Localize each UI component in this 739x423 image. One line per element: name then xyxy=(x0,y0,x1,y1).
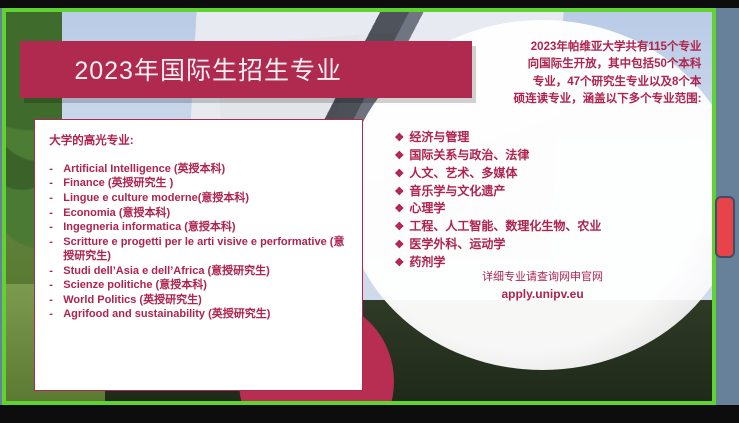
list-item: - Studi dell’Asia e dell’Africa (意授研究生) xyxy=(49,264,351,279)
program-label: Finance (英授研究生 ) xyxy=(63,176,351,191)
list-item: - Artificial Intelligence (英授本科) xyxy=(49,162,351,177)
slide-title-banner[interactable]: 2023年国际生招生专业 xyxy=(20,41,472,97)
diamond-bullet-icon: ❖ xyxy=(394,202,409,218)
list-item: ❖ 心理学 xyxy=(394,200,705,218)
list-item: ❖ 经济与管理 xyxy=(394,129,705,147)
list-dash: - xyxy=(49,191,63,206)
program-label: Ingegneria informatica (意授本科) xyxy=(63,220,351,235)
list-item: ❖ 国际关系与政治、法律 xyxy=(394,147,705,165)
program-label: Scritture e progetti per le arti visive … xyxy=(63,235,351,264)
diamond-bullet-icon: ❖ xyxy=(394,149,409,165)
program-label: Economia (意授本科) xyxy=(63,206,351,221)
list-dash: - xyxy=(49,278,63,293)
field-label: 心理学 xyxy=(409,200,445,217)
diamond-bullet-icon: ❖ xyxy=(394,220,409,236)
field-label: 经济与管理 xyxy=(409,129,469,146)
list-dash: - xyxy=(49,293,63,308)
intro-paragraph: 2023年帕维亚大学共有115个专业 向国际生开放，其中包括50个本科 专业，4… xyxy=(419,39,701,108)
slide-selection-frame[interactable]: 2023年国际生招生专业 大学的高光专业: - Artificial Intel… xyxy=(2,8,716,405)
program-label: Scienze politiche (意授本科) xyxy=(63,278,351,293)
diamond-bullet-icon: ❖ xyxy=(394,185,409,201)
list-dash: - xyxy=(49,220,63,235)
list-item: - Lingue e culture moderne(意授本科) xyxy=(49,191,351,206)
diamond-bullet-icon: ❖ xyxy=(394,238,409,254)
list-item: - Ingegneria informatica (意授本科) xyxy=(49,220,351,235)
program-label: Studi dell’Asia e dell’Africa (意授研究生) xyxy=(63,264,351,279)
bottom-chrome-bar xyxy=(0,405,739,423)
intro-line-3: 专业，47个研究生专业以及8个本 xyxy=(419,74,701,91)
list-dash: - xyxy=(49,264,63,279)
list-item: ❖ 工程、人工智能、数理化生物、农业 xyxy=(394,218,705,236)
list-item: ❖ 医学外科、运动学 xyxy=(394,236,705,254)
slide-canvas[interactable]: 2023年国际生招生专业 大学的高光专业: - Artificial Intel… xyxy=(6,12,712,401)
intro-line-4: 硕连读专业，涵盖以下多个专业范围: xyxy=(419,91,701,108)
field-label: 国际关系与政治、法律 xyxy=(409,147,529,164)
apply-url-link[interactable]: apply.unipv.eu xyxy=(401,285,683,303)
list-dash: - xyxy=(49,235,63,250)
list-item: - Scritture e progetti per le arti visiv… xyxy=(49,235,351,264)
subject-fields-list: ❖ 经济与管理 ❖ 国际关系与政治、法律 ❖ 人文、艺术、多媒体 ❖ 音乐学与文… xyxy=(394,129,705,273)
program-label: Agrifood and sustainability (英授研究生) xyxy=(63,307,351,322)
list-item: ❖ 音乐学与文化遗产 xyxy=(394,183,705,201)
page-title: 2023年国际生招生专业 xyxy=(74,51,342,87)
diamond-bullet-icon: ❖ xyxy=(394,131,409,147)
list-item: - World Politics (英授研究生) xyxy=(49,293,351,308)
list-item: ❖ 人文、艺术、多媒体 xyxy=(394,165,705,183)
field-label: 医学外科、运动学 xyxy=(409,236,505,253)
highlight-programs-heading: 大学的高光专业: xyxy=(49,132,351,148)
edge-toolbar-widget[interactable] xyxy=(715,196,735,258)
top-chrome-bar xyxy=(0,0,739,8)
list-dash: - xyxy=(49,206,63,221)
list-dash: - xyxy=(49,176,63,191)
field-label: 人文、艺术、多媒体 xyxy=(409,165,517,182)
intro-line-1: 2023年帕维亚大学共有115个专业 xyxy=(419,39,701,56)
subject-fields-block: ❖ 经济与管理 ❖ 国际关系与政治、法律 ❖ 人文、艺术、多媒体 ❖ 音乐学与文… xyxy=(394,129,705,273)
program-label: Artificial Intelligence (英授本科) xyxy=(63,162,351,177)
apply-note-text: 详细专业请查询网申官网 xyxy=(401,269,683,286)
list-dash: - xyxy=(49,162,63,177)
presentation-app-window: 2023年国际生招生专业 大学的高光专业: - Artificial Intel… xyxy=(0,0,739,423)
highlight-programs-list: - Artificial Intelligence (英授本科) - Finan… xyxy=(49,162,351,322)
field-label: 工程、人工智能、数理化生物、农业 xyxy=(409,218,601,235)
list-dash: - xyxy=(49,307,63,322)
highlight-programs-card[interactable]: 大学的高光专业: - Artificial Intelligence (英授本科… xyxy=(34,119,362,391)
diamond-bullet-icon: ❖ xyxy=(394,167,409,183)
program-label: World Politics (英授研究生) xyxy=(63,293,351,308)
program-label: Lingue e culture moderne(意授本科) xyxy=(63,191,351,206)
list-item: - Economia (意授本科) xyxy=(49,206,351,221)
list-item: - Finance (英授研究生 ) xyxy=(49,176,351,191)
apply-info-block: 详细专业请查询网申官网 apply.unipv.eu xyxy=(401,269,683,304)
field-label: 音乐学与文化遗产 xyxy=(409,183,505,200)
list-item: - Scienze politiche (意授本科) xyxy=(49,278,351,293)
list-item: - Agrifood and sustainability (英授研究生) xyxy=(49,307,351,322)
intro-line-2: 向国际生开放，其中包括50个本科 xyxy=(419,56,701,73)
